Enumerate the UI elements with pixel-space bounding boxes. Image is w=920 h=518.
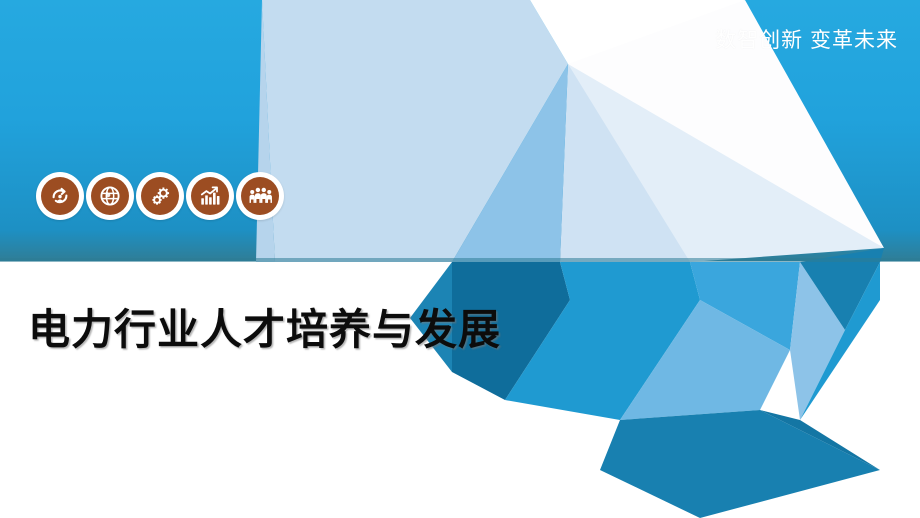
page-title: 电力行业人才培养与发展 [28, 296, 501, 357]
poly-bottom-tail [600, 410, 880, 518]
icon-badge-recycle-person[interactable] [36, 172, 84, 220]
icon-badge-gears[interactable] [136, 172, 184, 220]
icon-badge-bar-chart[interactable] [186, 172, 234, 220]
gears-icon [141, 177, 179, 215]
tagline-text: 数智创新 变革未来 [715, 28, 898, 53]
icon-badge-row [36, 172, 284, 220]
bar-chart-growth-icon [191, 177, 229, 215]
presentation-title-slide: 数智创新 变革未来 [0, 0, 920, 518]
people-group-icon [241, 177, 279, 215]
icon-badge-globe[interactable] [86, 172, 134, 220]
globe-icon [91, 177, 129, 215]
poly-band-bevel [0, 258, 920, 262]
recycle-person-icon [41, 177, 79, 215]
polygon-artwork [0, 0, 920, 518]
icon-badge-people-group[interactable] [236, 172, 284, 220]
